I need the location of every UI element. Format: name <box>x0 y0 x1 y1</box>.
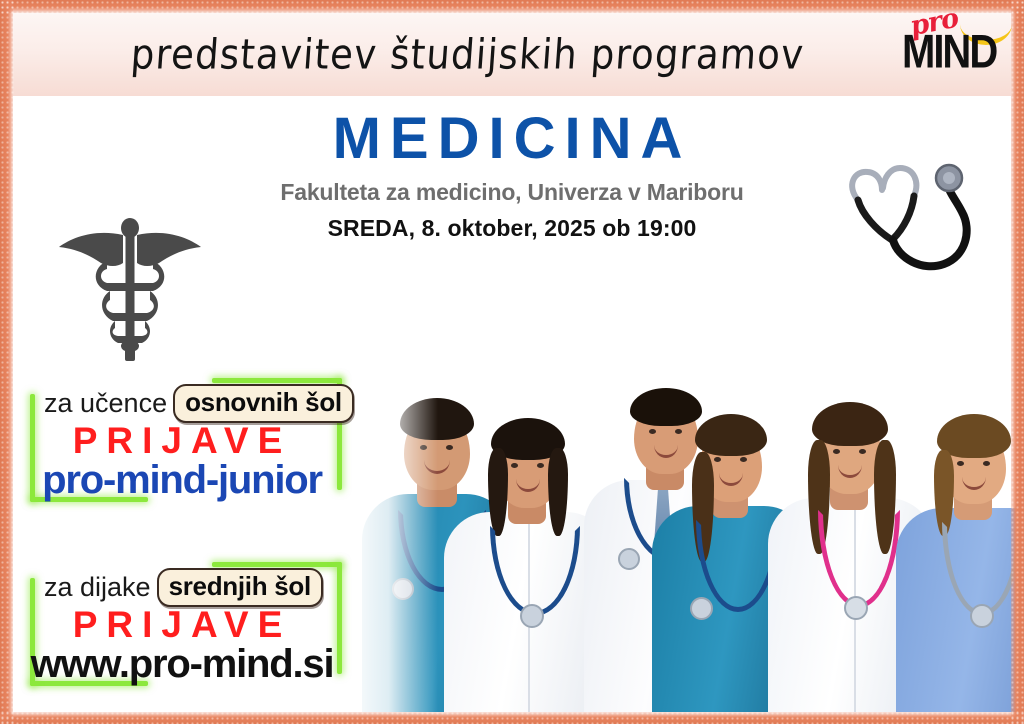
stethoscope-icon <box>836 152 996 277</box>
cta-audience-line: za učence osnovnih šol <box>44 384 354 423</box>
cta-audience-line: za dijake srednjih šol <box>44 568 323 607</box>
cta-link-label[interactable]: pro-mind-junior <box>22 458 342 503</box>
cta-audience-prefix: za učence <box>44 388 167 419</box>
photo-left-fade <box>348 288 438 712</box>
cta-link-label[interactable]: www.pro-mind.si <box>22 642 342 687</box>
cta-audience-pill: srednjih šol <box>157 568 323 607</box>
cta-action-label: PRIJAVE <box>22 604 342 646</box>
frame-right-edge <box>1011 0 1024 724</box>
person-figure <box>896 404 1024 712</box>
caduceus-icon <box>55 205 205 365</box>
medical-team-photo <box>348 288 1024 712</box>
header-banner: predstavitev študijskih programov <box>13 13 1011 96</box>
pro-mind-logo: pro MIND <box>898 4 1018 82</box>
banner-title: predstavitev študijskih programov <box>129 30 806 78</box>
cta-audience-prefix: za dijake <box>44 572 151 603</box>
frame-left-edge <box>0 0 13 724</box>
cta-block-main[interactable]: za dijake srednjih šol PRIJAVE www.pro-m… <box>22 562 342 686</box>
poster-canvas: predstavitev študijskih programov pro MI… <box>0 0 1024 724</box>
logo-mind-text: MIND <box>902 26 996 79</box>
frame-bottom-edge <box>0 712 1024 724</box>
cta-audience-pill: osnovnih šol <box>173 384 354 423</box>
frame-top-edge <box>0 0 1024 13</box>
cta-action-label: PRIJAVE <box>22 420 342 462</box>
cta-block-junior[interactable]: za učence osnovnih šol PRIJAVE pro-mind-… <box>22 378 342 502</box>
